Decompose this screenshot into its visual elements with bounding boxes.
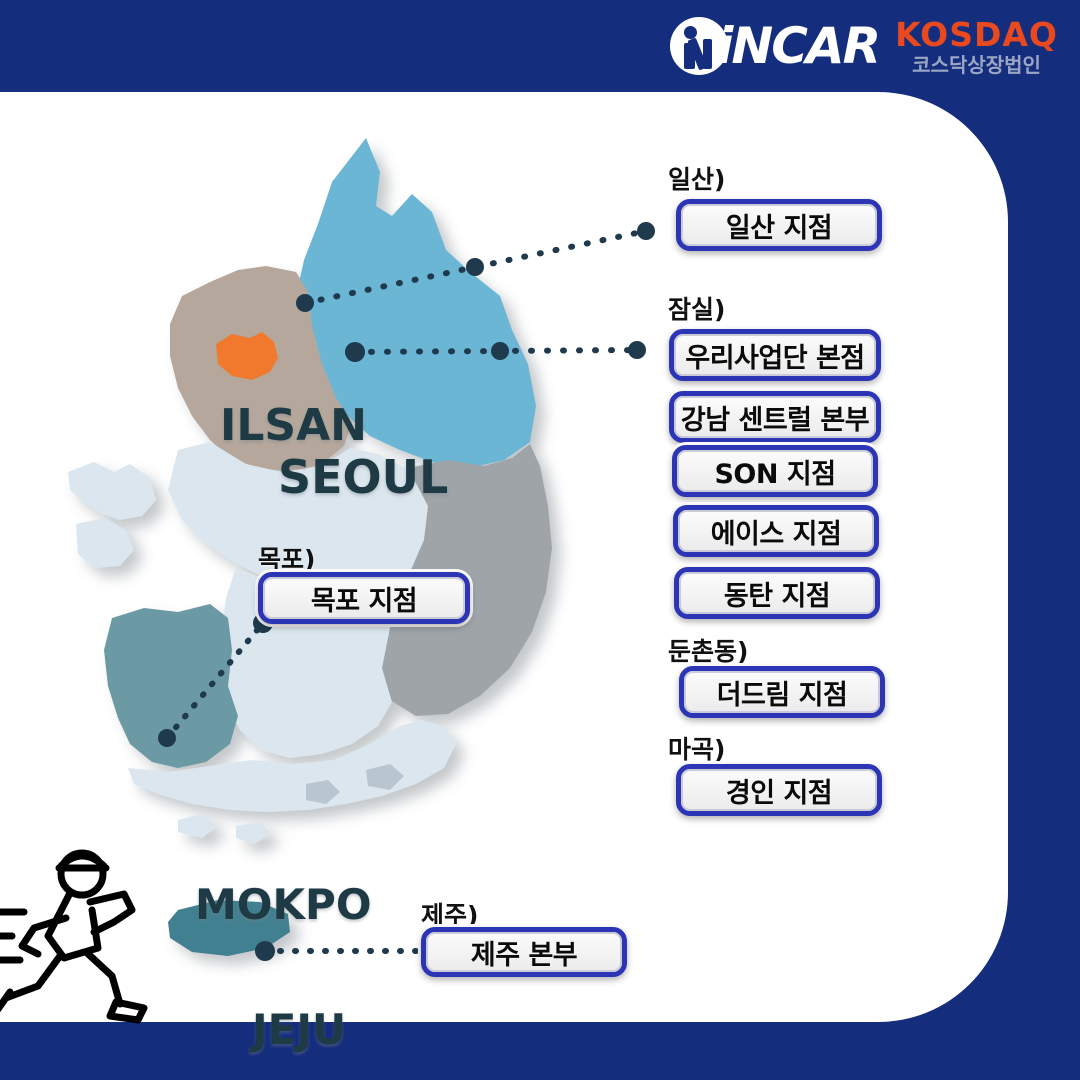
branch-pill-son[interactable]: SON 지점 [672,445,878,497]
branch-pill-dedream[interactable]: 더드림 지점 [679,666,885,718]
kosdaq-wordmark: KOSDAQ [895,18,1058,51]
brand-bar: iNCAR KOSDAQ 코스닥상장법인 [0,0,1080,92]
group-title-jamsil: 잠실) [668,290,725,326]
branch-label: 동탄 지점 [724,574,830,613]
branch-label: 더드림 지점 [717,673,848,712]
branch-pill-dongtan[interactable]: 동탄 지점 [674,567,880,619]
branch-pill-ilsan[interactable]: 일산 지점 [676,199,882,251]
branch-label: 경인 지점 [726,771,832,810]
running-person-icon [0,836,166,1026]
kosdaq-subtitle: 코스닥상장법인 [912,55,1041,75]
logo-group: iNCAR KOSDAQ 코스닥상장법인 [670,15,1058,77]
incar-logo: iNCAR [670,15,879,77]
incar-circle-logo-icon [670,17,728,75]
branch-label: SON 지점 [714,452,835,491]
branch-pill-gangnam-central[interactable]: 강남 센트럴 본부 [669,391,881,443]
group-title-dunchon: 둔촌동) [668,632,748,668]
group-title-ilsan: 일산) [668,160,725,196]
branch-label: 목포 지점 [311,579,417,618]
group-title-mokpo: 목포) [258,540,315,576]
branch-label: 우리사업단 본점 [685,336,864,375]
branch-pill-mokpo[interactable]: 목포 지점 [258,572,470,624]
kosdaq-badge: KOSDAQ 코스닥상장법인 [895,18,1058,75]
branch-label: 제주 본부 [471,933,577,972]
branch-label: 에이스 지점 [711,512,842,551]
branch-label: 강남 센트럴 본부 [681,398,869,437]
branch-pill-ace[interactable]: 에이스 지점 [673,505,879,557]
branch-pill-woori[interactable]: 우리사업단 본점 [669,329,881,381]
incar-wordmark: iNCAR [716,21,879,71]
poster-stage: iNCAR KOSDAQ 코스닥상장법인 [0,0,1080,1080]
branch-label: 일산 지점 [726,206,832,245]
branch-pill-jeju[interactable]: 제주 본부 [421,927,627,977]
group-title-magok: 마곡) [668,730,725,766]
branch-pill-gyeongin[interactable]: 경인 지점 [676,764,882,816]
